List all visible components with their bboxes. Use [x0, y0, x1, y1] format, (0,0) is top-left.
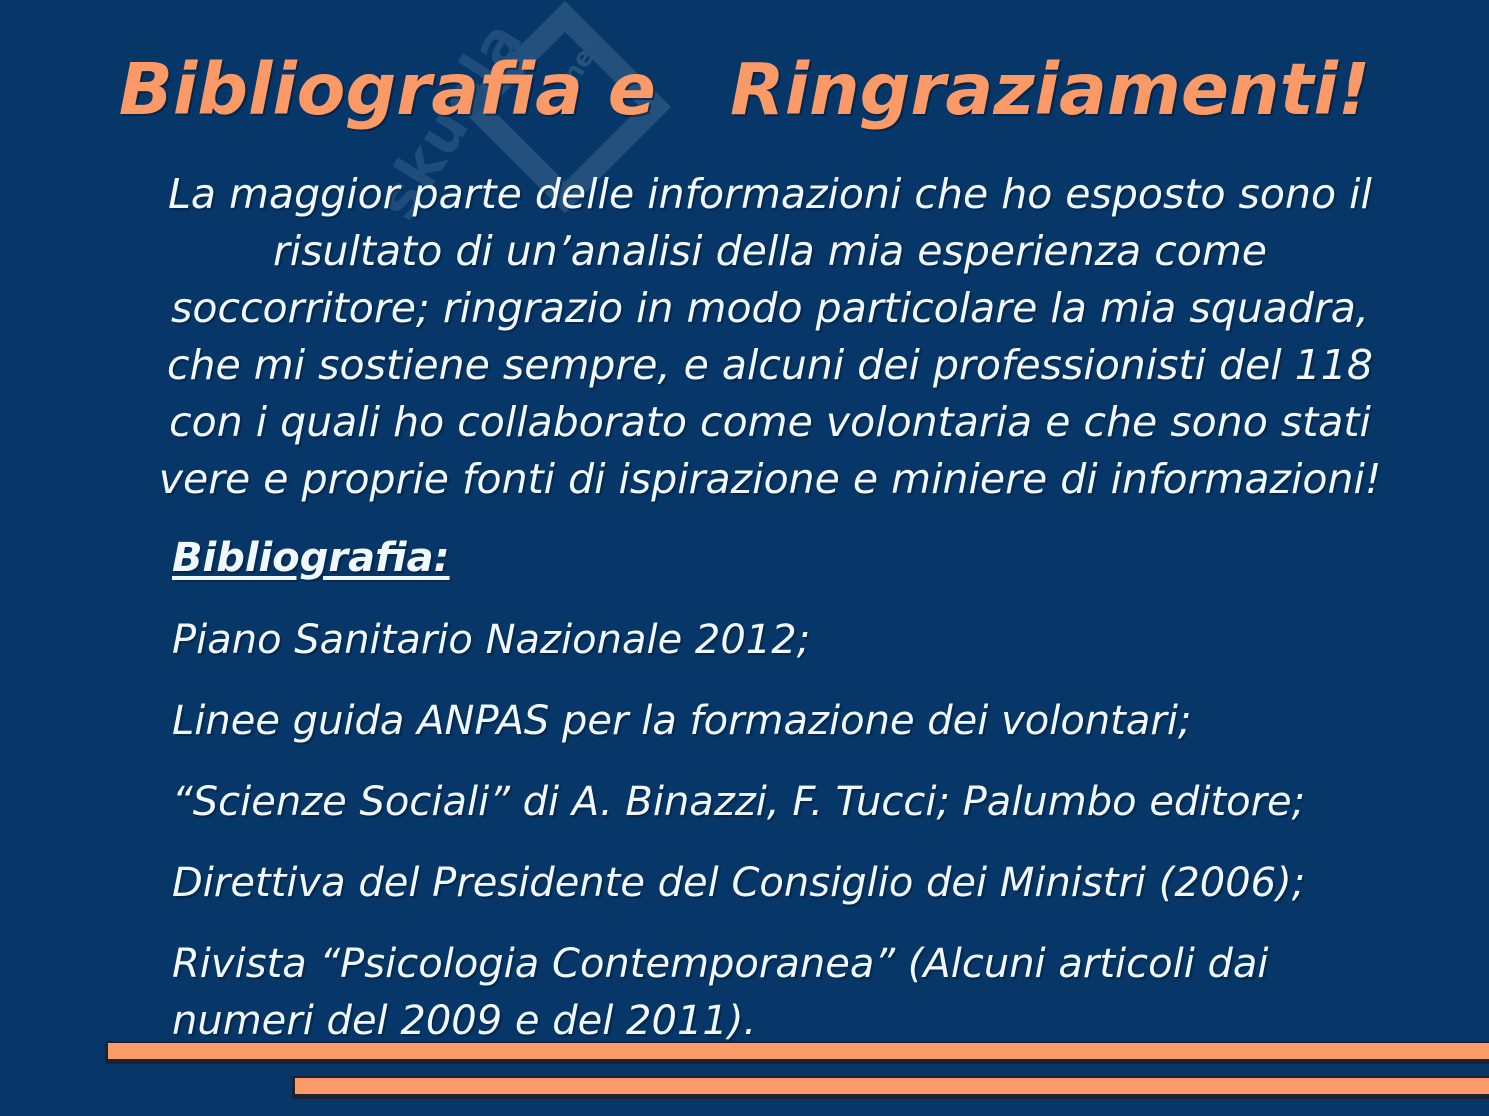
bibliography-section: Bibliografia: Piano Sanitario Nazionale …: [172, 530, 1412, 1050]
bibliography-item: Rivista “Psicologia Contemporanea” (Alcu…: [172, 936, 1412, 1050]
bibliography-item: Direttiva del Presidente del Consiglio d…: [172, 855, 1412, 912]
intro-line: con i quali ho collaborato come volontar…: [150, 394, 1390, 451]
bibliography-item: Piano Sanitario Nazionale 2012;: [172, 612, 1412, 669]
decorative-bar-upper: [105, 1041, 1489, 1064]
slide-canvas: skuola .net Bibliografia e Ringraziament…: [0, 0, 1489, 1116]
bibliography-item: Linee guida ANPAS per la formazione dei …: [172, 693, 1412, 750]
bibliography-heading: Bibliografia:: [172, 530, 1412, 586]
intro-line: risultato di un’analisi della mia esperi…: [150, 223, 1390, 280]
intro-line: La maggior parte delle informazioni che …: [150, 166, 1390, 223]
intro-line: soccorritore; ringrazio in modo particol…: [150, 280, 1390, 337]
bibliography-item: “Scienze Sociali” di A. Binazzi, F. Tucc…: [172, 774, 1412, 831]
intro-line: vere e proprie fonti di ispirazione e mi…: [150, 451, 1390, 508]
intro-line: che mi sostiene sempre, e alcuni dei pro…: [150, 337, 1390, 394]
intro-paragraph: La maggior parte delle informazioni che …: [150, 166, 1390, 508]
slide-title: Bibliografia e Ringraziamenti!: [0, 54, 1489, 125]
decorative-bar-lower: [292, 1076, 1489, 1099]
